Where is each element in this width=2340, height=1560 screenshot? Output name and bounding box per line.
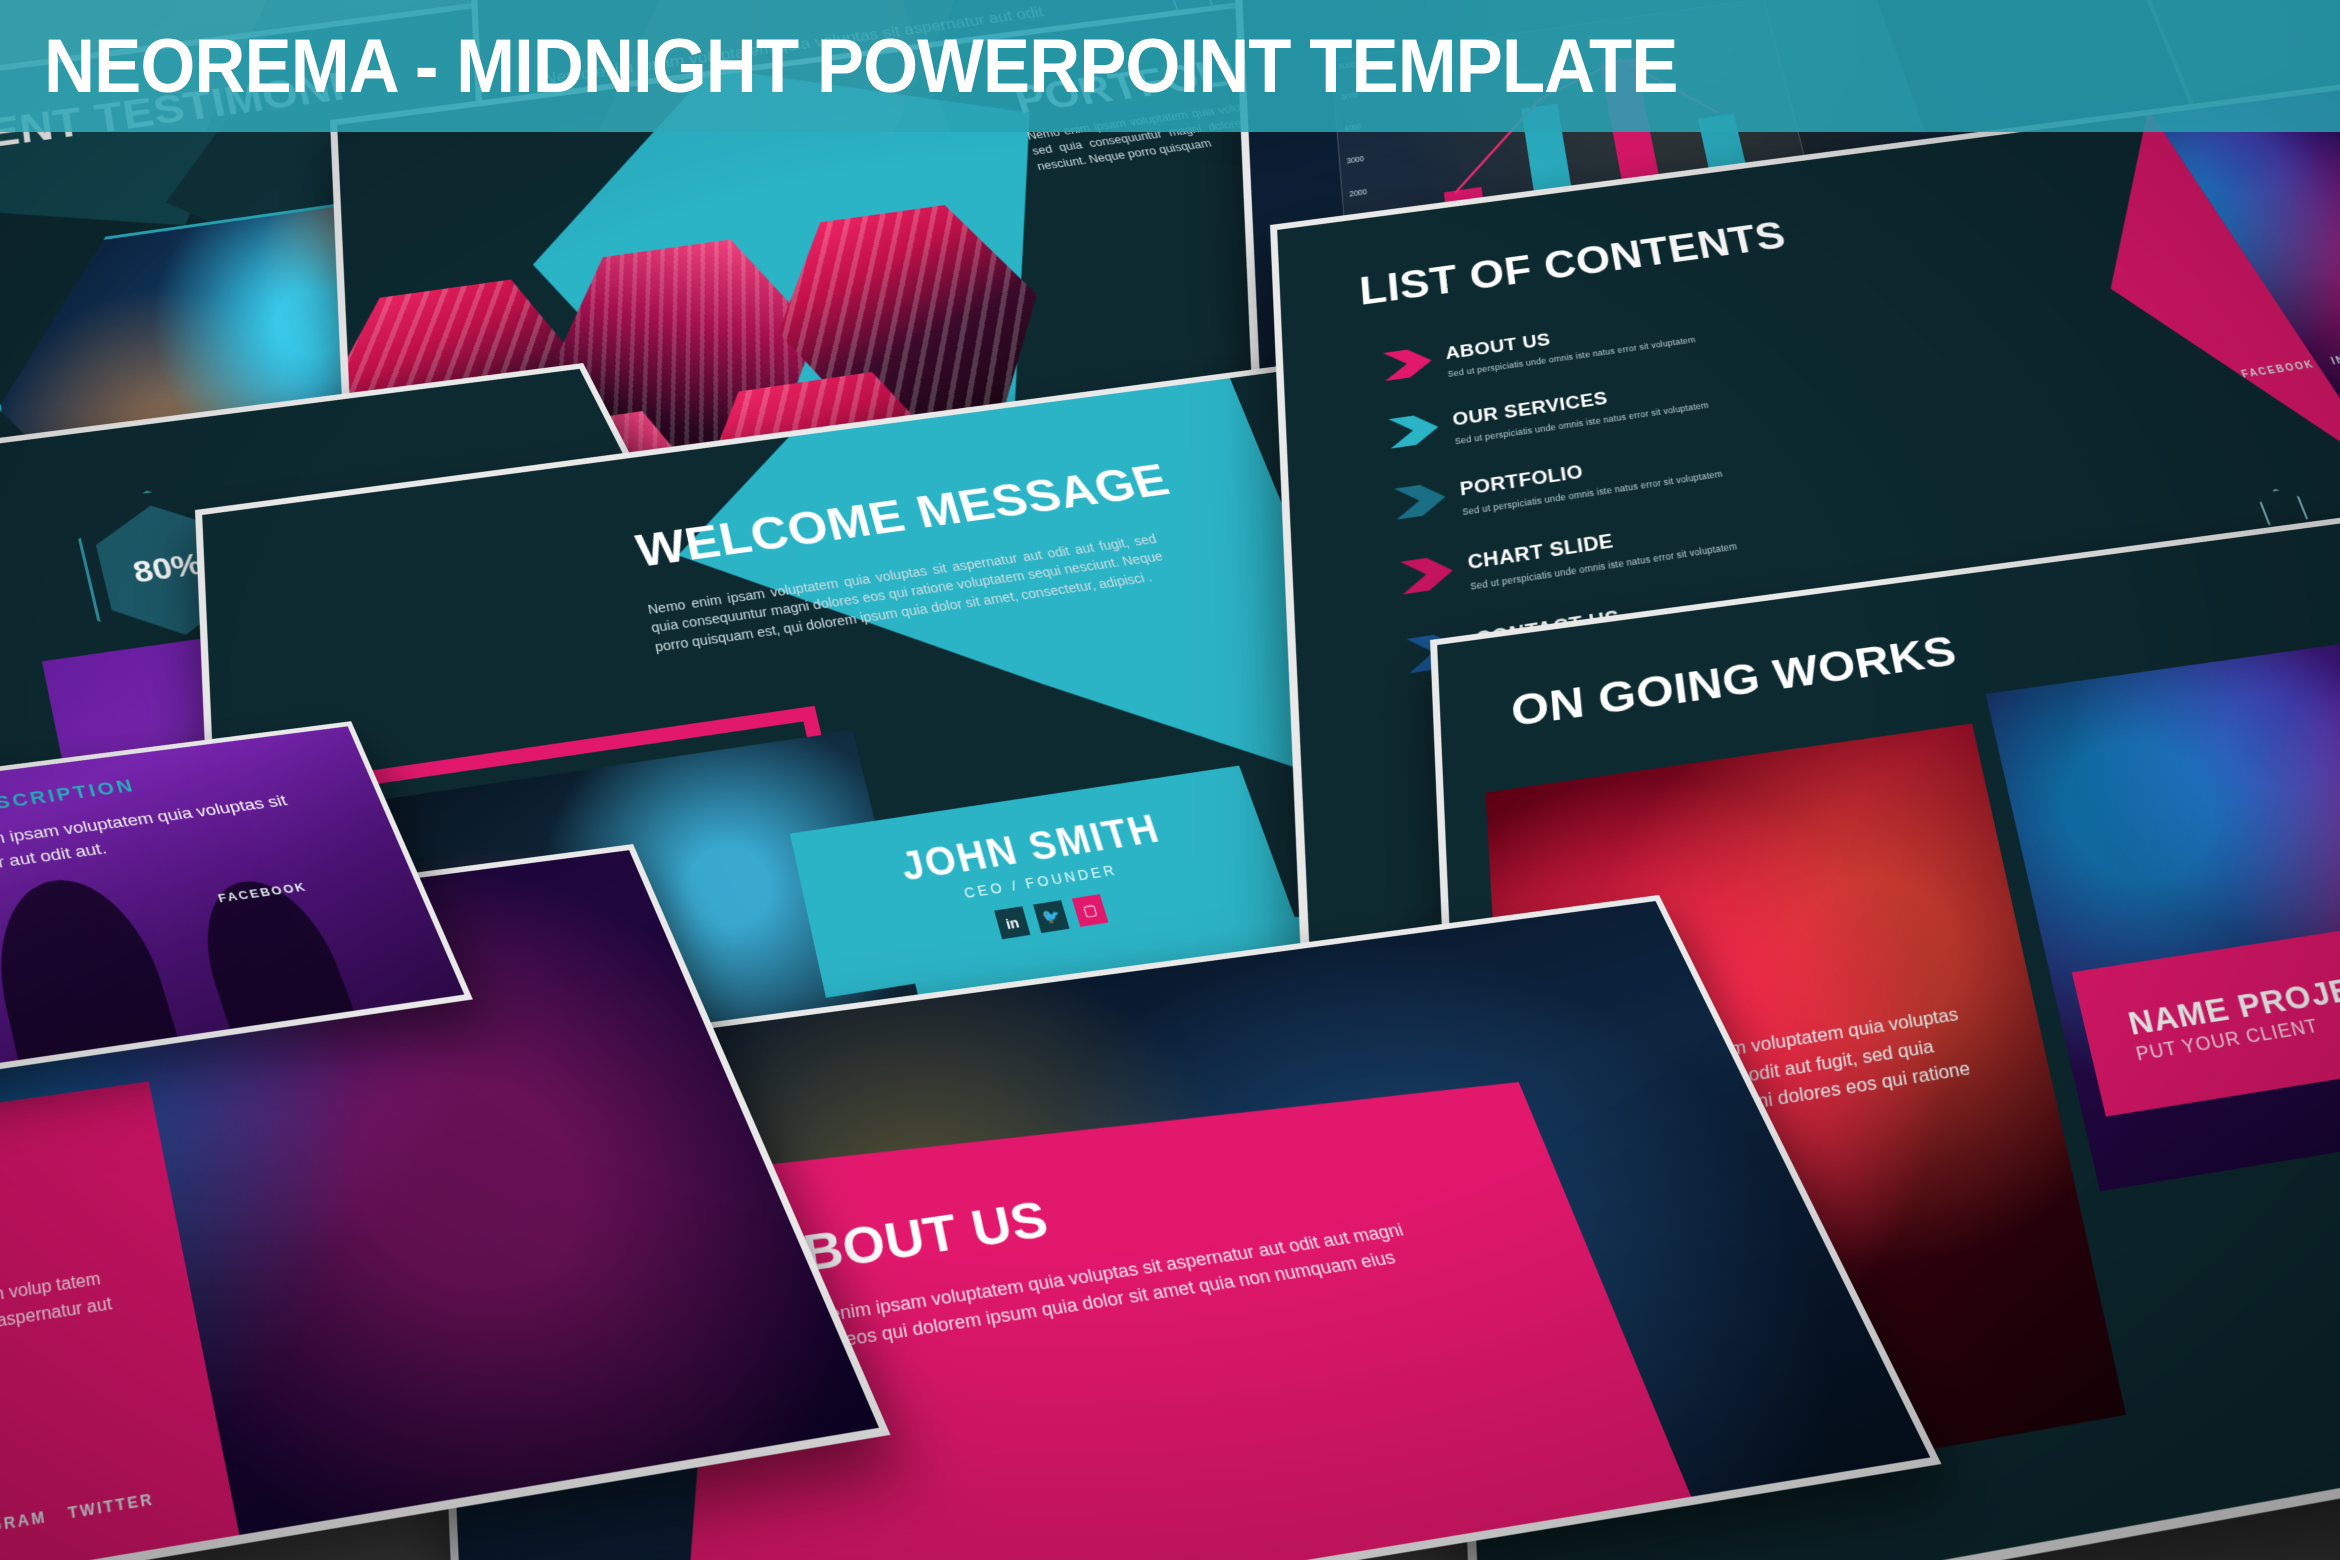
poster-canvas: CLIENT TESTIMONI EMMA STONE DESIGNER “Ne… (0, 0, 2340, 1560)
percent-value: 80% (129, 547, 206, 591)
title-banner: NEOREMA - MIDNIGHT POWERPOINT TEMPLATE (0, 0, 2340, 132)
chevron-right-icon-1 (1383, 346, 1433, 381)
chevron-right-icon-2 (1388, 412, 1439, 448)
instagram-icon[interactable]: ▢ (1072, 894, 1109, 927)
chevron-right-icon-4 (1400, 554, 1454, 594)
welcome-social-icons: in 🐦 ▢ (994, 894, 1108, 939)
page-title: NEOREMA - MIDNIGHT POWERPOINT TEMPLATE (44, 23, 1677, 110)
linkedin-icon[interactable]: in (994, 906, 1030, 939)
pricing-body: Nemo enim ipsam volup tatem quia volupta… (0, 1261, 150, 1384)
chevron-right-icon-3 (1394, 481, 1447, 519)
twitter-icon[interactable]: 🐦 (1033, 900, 1069, 933)
